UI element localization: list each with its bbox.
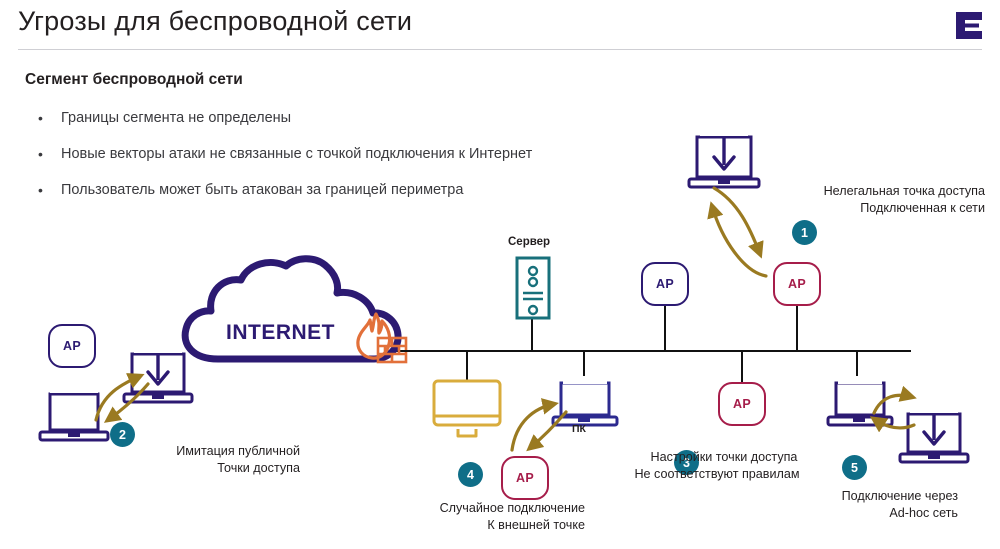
bus-drop-ap-settings <box>741 350 743 382</box>
annotation-5-caption: Подключение через Ad-hoc сеть <box>790 488 958 522</box>
annotation-3-line-1: Настройки точки доступа <box>631 449 817 466</box>
annotation-4-caption: Случайное подключение К внешней точке <box>400 500 585 534</box>
ap-node-settings[interactable]: AP <box>718 382 766 426</box>
annotation-2-line-2: Точки доступа <box>70 460 300 477</box>
attack-arrows-adhoc <box>868 385 958 460</box>
attack-arrows-accidental-connection <box>500 392 610 477</box>
annotation-4-line-2: К внешней точке <box>400 517 585 534</box>
ap-node-label: AP <box>50 339 94 353</box>
bullet-text: Границы сегмента не определены <box>61 110 291 126</box>
slide-canvas: Угрозы для беспроводной сети Сегмент бес… <box>0 0 1000 549</box>
annotation-2-line-1: Имитация публичной <box>70 443 300 460</box>
annotation-3-caption: Настройки точки доступа Не соответствуют… <box>617 449 817 483</box>
attack-arrows-public-imitation <box>78 354 208 449</box>
bullet-text: Новые векторы атаки не связанные с точко… <box>61 146 532 162</box>
annotation-1-line-1: Нелегальная точка доступа <box>670 183 985 200</box>
laptop-screen-top-gap <box>134 345 182 353</box>
annotation-4-line-1: Случайное подключение <box>400 500 585 517</box>
section-heading: Сегмент беспроводной сети <box>25 71 243 89</box>
annotation-1-badge: 1 <box>792 220 817 245</box>
server-label: Сервер <box>508 236 550 248</box>
laptop-screen-top-gap <box>700 128 748 136</box>
ap-node-bus-mid[interactable]: AP <box>641 262 689 306</box>
ap-node-label: AP <box>775 277 819 291</box>
logo-e-mark-icon <box>954 10 984 41</box>
network-bus-line <box>395 350 911 352</box>
server-rack-icon <box>515 256 551 325</box>
annotation-5-badge: 5 <box>842 455 867 480</box>
page-title: Угрозы для беспроводной сети <box>18 6 412 37</box>
header-divider <box>18 49 982 50</box>
internet-cloud-label: INTERNET <box>226 321 335 345</box>
bullet-marker: • <box>38 110 43 126</box>
bus-drop-ap-rogue <box>796 305 798 351</box>
annotation-1-line-2: Подключенная к сети <box>670 200 985 217</box>
laptop-screen-top-gap <box>563 376 607 384</box>
bullet-marker: • <box>38 182 43 198</box>
annotation-1-caption: Нелегальная точка доступа Подключенная к… <box>670 183 985 217</box>
firewall-flame-brick-icon <box>348 310 410 371</box>
ap-node-rogue[interactable]: AP <box>773 262 821 306</box>
desktop-monitor-icon <box>431 379 503 444</box>
firewall-bus-stub <box>402 350 420 352</box>
annotation-2-caption: Имитация публичной Точки доступа <box>70 443 300 477</box>
annotation-5-line-1: Подключение через <box>790 488 958 505</box>
bullet-marker: • <box>38 146 43 162</box>
annotation-4-badge: 4 <box>458 462 483 487</box>
bullet-text: Пользователь может быть атакован за гран… <box>61 182 463 198</box>
bus-drop-ap-mid <box>664 305 666 351</box>
ap-node-label: AP <box>720 397 764 411</box>
annotation-3-line-2: Не соответствуют правилам <box>617 466 817 483</box>
ap-node-label: AP <box>643 277 687 291</box>
bus-drop-monitor <box>466 350 468 381</box>
annotation-5-line-2: Ad-hoc сеть <box>790 505 958 522</box>
laptop-screen-top-gap <box>838 376 882 384</box>
